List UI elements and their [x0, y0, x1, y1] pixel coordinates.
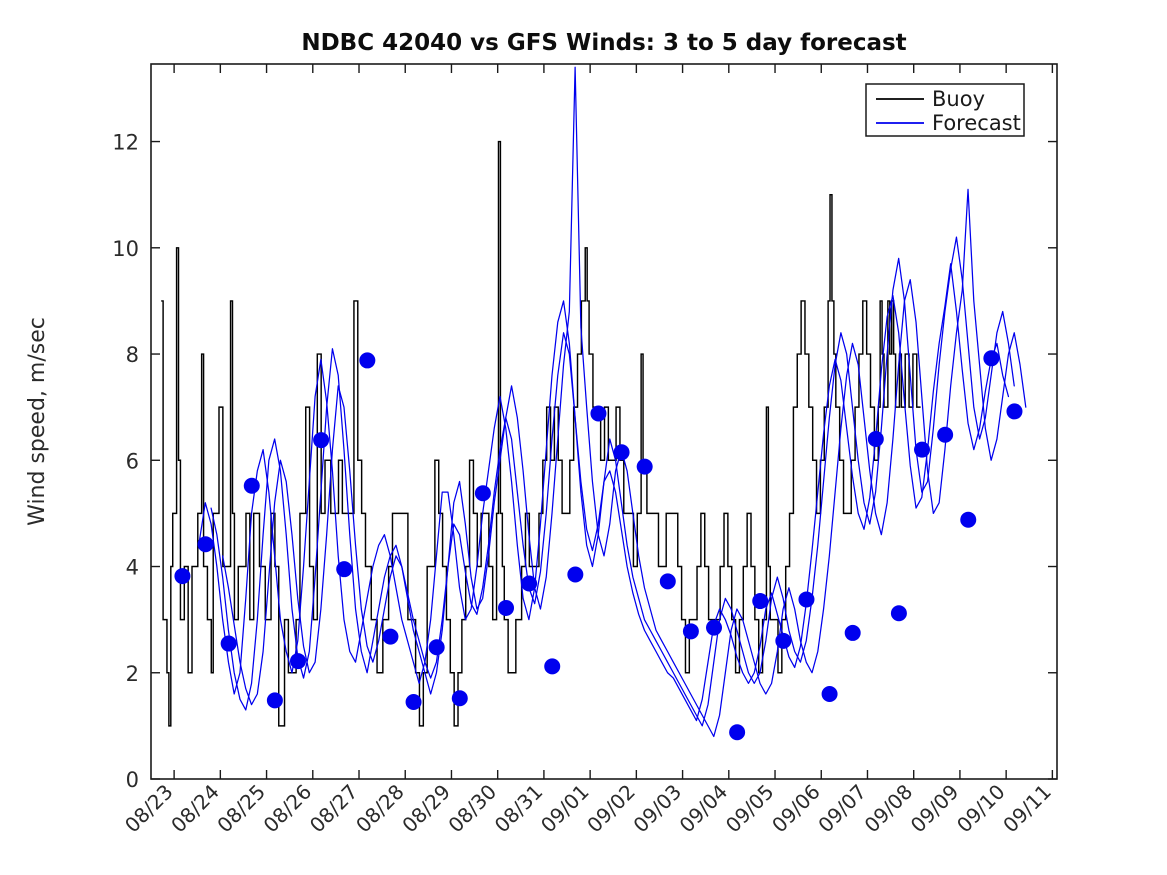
- daily-mean-marker: [498, 600, 514, 616]
- daily-mean-marker: [960, 512, 976, 528]
- y-axis-title: Wind speed, m/sec: [25, 317, 50, 526]
- daily-mean-marker: [983, 350, 999, 366]
- daily-mean-marker: [660, 573, 676, 589]
- daily-mean-marker: [521, 576, 537, 592]
- daily-mean-marker: [198, 536, 214, 552]
- daily-mean-marker: [336, 561, 352, 577]
- daily-mean-marker: [221, 636, 237, 652]
- daily-mean-marker: [798, 591, 814, 607]
- daily-mean-marker: [683, 623, 699, 639]
- x-tick-label: 08/30: [443, 780, 501, 838]
- daily-mean-marker: [244, 478, 260, 494]
- x-tick-label: 08/26: [259, 780, 317, 838]
- x-tick-label: 08/27: [305, 780, 363, 838]
- x-tick-label: 08/25: [212, 780, 270, 838]
- daily-mean-marker: [822, 686, 838, 702]
- x-tick-label: 09/08: [860, 780, 918, 838]
- daily-mean-marker: [891, 605, 907, 621]
- y-tick-label: 12: [112, 131, 139, 155]
- x-tick-label: 09/11: [998, 780, 1056, 838]
- chart-title: NDBC 42040 vs GFS Winds: 3 to 5 day fore…: [301, 30, 906, 56]
- daily-mean-marker: [429, 639, 445, 655]
- daily-mean-marker: [452, 690, 468, 706]
- x-tick-label: 08/24: [166, 780, 224, 838]
- daily-mean-marker: [544, 658, 560, 674]
- daily-mean-marker: [174, 568, 190, 584]
- y-tick-label: 4: [126, 556, 139, 580]
- series-forecast-2: [211, 67, 1026, 736]
- daily-mean-marker: [406, 694, 422, 710]
- daily-mean-marker: [1006, 403, 1022, 419]
- x-tick-label: 09/01: [536, 780, 594, 838]
- x-tick-label: 09/10: [952, 780, 1010, 838]
- chart-legend[interactable]: BuoyForecast: [866, 84, 1024, 136]
- x-tick-label: 09/04: [675, 780, 733, 838]
- x-tick-label: 08/28: [351, 780, 409, 838]
- x-tick-label: 09/07: [813, 780, 871, 838]
- wind-speed-timeseries-chart: NDBC 42040 vs GFS Winds: 3 to 5 day fore…: [0, 0, 1167, 875]
- daily-mean-marker: [567, 566, 583, 582]
- legend-label-buoy[interactable]: Buoy: [932, 87, 985, 111]
- x-tick-label: 09/03: [628, 780, 686, 838]
- daily-mean-marker: [637, 459, 653, 475]
- daily-mean-marker: [729, 724, 745, 740]
- daily-mean-marker: [590, 406, 606, 422]
- daily-mean-marker: [845, 625, 861, 641]
- daily-mean-marker: [775, 633, 791, 649]
- daily-mean-marker: [868, 431, 884, 447]
- x-tick-label: 09/09: [906, 780, 964, 838]
- daily-mean-marker: [706, 620, 722, 636]
- chart-figure: NDBC 42040 vs GFS Winds: 3 to 5 day fore…: [0, 0, 1167, 875]
- y-axis-ticks: 024681012: [112, 131, 1057, 792]
- daily-mean-marker: [475, 485, 491, 501]
- x-tick-label: 08/29: [397, 780, 455, 838]
- series-forecast-3: [223, 264, 1009, 721]
- y-tick-label: 8: [126, 343, 139, 367]
- x-tick-label: 08/31: [490, 780, 548, 838]
- daily-mean-marker: [313, 432, 329, 448]
- y-tick-label: 2: [126, 662, 139, 686]
- y-tick-label: 10: [112, 237, 139, 261]
- x-tick-label: 09/05: [721, 780, 779, 838]
- x-tick-label: 09/02: [582, 780, 640, 838]
- daily-mean-marker: [359, 352, 375, 368]
- data-series-layer: [161, 67, 1026, 736]
- daily-mean-marker: [382, 629, 398, 645]
- x-tick-label: 09/06: [767, 780, 825, 838]
- legend-label-forecast[interactable]: Forecast: [932, 111, 1021, 135]
- daily-mean-marker: [290, 653, 306, 669]
- daily-mean-marker: [267, 692, 283, 708]
- y-tick-label: 6: [126, 449, 139, 473]
- daily-mean-marker: [914, 442, 930, 458]
- daily-mean-marker: [937, 427, 953, 443]
- y-tick-label: 0: [126, 768, 139, 792]
- daily-mean-marker: [752, 593, 768, 609]
- daily-mean-marker: [614, 444, 630, 460]
